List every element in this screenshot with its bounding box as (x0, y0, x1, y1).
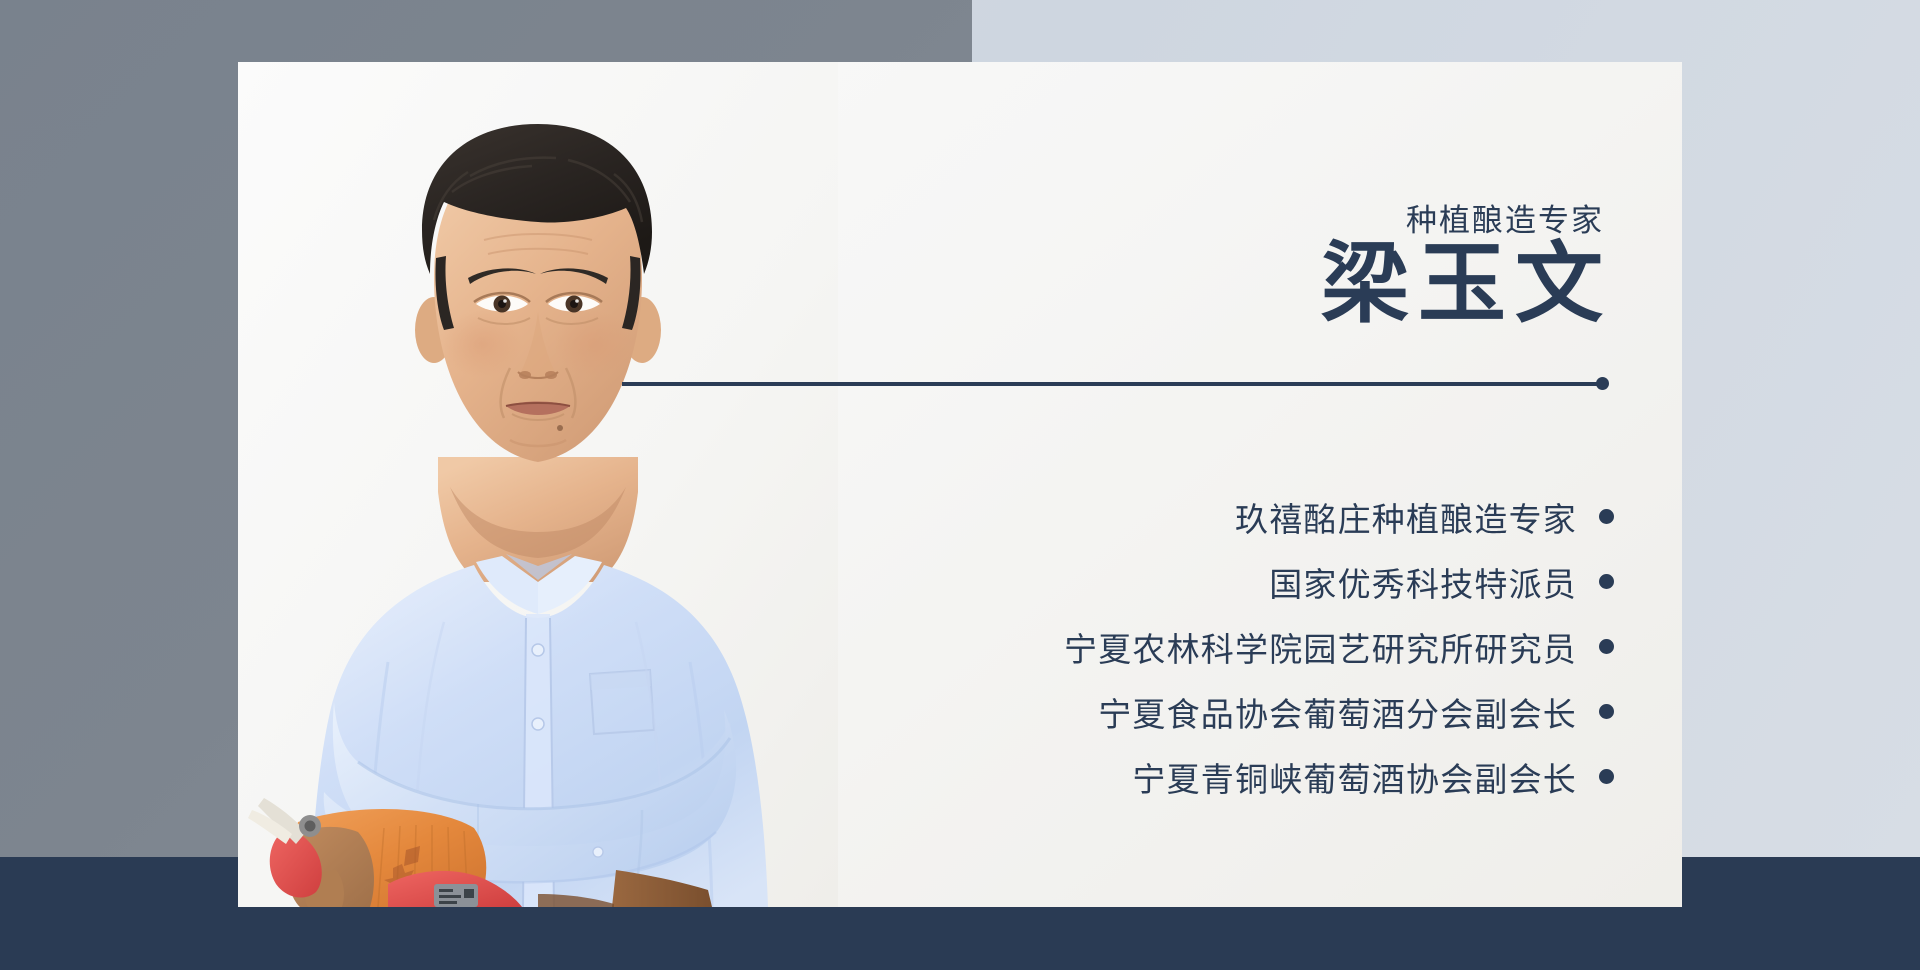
horizontal-divider (622, 382, 1604, 386)
credential-text: 国家优秀科技特派员 (1269, 558, 1577, 606)
expert-name: 梁玉文 (1321, 238, 1612, 333)
expert-profile-banner: 种植酿造专家 梁玉文 玖禧酩庄种植酿造专家 国家优秀科技特派员 宁夏农林科学院园… (0, 0, 1920, 970)
bullet-dot-icon (1599, 509, 1614, 524)
profile-card: 种植酿造专家 梁玉文 玖禧酩庄种植酿造专家 国家优秀科技特派员 宁夏农林科学院园… (238, 62, 1682, 907)
credentials-list: 玖禧酩庄种植酿造专家 国家优秀科技特派员 宁夏农林科学院园艺研究所研究员 宁夏食… (834, 484, 1614, 809)
profile-text-column: 种植酿造专家 梁玉文 玖禧酩庄种植酿造专家 国家优秀科技特派员 宁夏农林科学院园… (878, 62, 1682, 907)
bullet-dot-icon (1599, 574, 1614, 589)
list-item: 宁夏青铜峡葡萄酒协会副会长 (1132, 744, 1614, 809)
bullet-dot-icon (1599, 704, 1614, 719)
bullet-dot-icon (1599, 639, 1614, 654)
credential-text: 玖禧酩庄种植酿造专家 (1235, 493, 1577, 541)
expert-subtitle: 种植酿造专家 (1406, 195, 1604, 240)
credential-text: 宁夏农林科学院园艺研究所研究员 (1064, 623, 1577, 671)
list-item: 国家优秀科技特派员 (1269, 549, 1614, 614)
credential-text: 宁夏青铜峡葡萄酒协会副会长 (1132, 753, 1577, 801)
divider-end-dot-icon (1596, 377, 1609, 390)
credential-text: 宁夏食品协会葡萄酒分会副会长 (1098, 688, 1577, 736)
list-item: 宁夏农林科学院园艺研究所研究员 (1064, 614, 1614, 679)
bullet-dot-icon (1599, 769, 1614, 784)
expert-portrait-photo (238, 62, 838, 907)
list-item: 玖禧酩庄种植酿造专家 (1235, 484, 1614, 549)
list-item: 宁夏食品协会葡萄酒分会副会长 (1098, 679, 1614, 744)
